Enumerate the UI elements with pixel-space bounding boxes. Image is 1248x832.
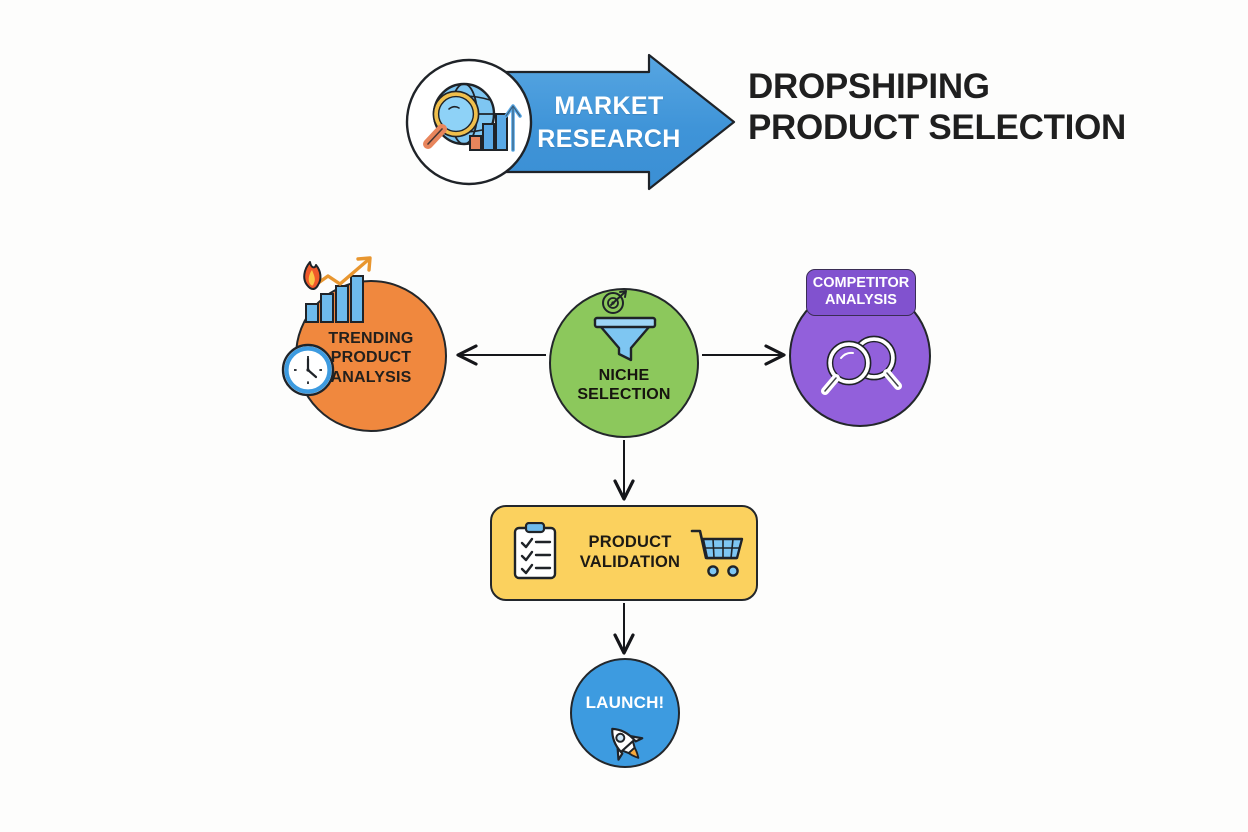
node-niche-label: NICHE SELECTION [577,366,670,404]
node-validation-label: PRODUCT VALIDATION [580,533,680,573]
node-competitor-label: COMPETITOR ANALYSIS [806,269,916,316]
funnel-icon [587,288,663,366]
shopping-cart-icon [690,527,748,579]
clock-icon [279,341,337,399]
node-launch-label: LAUNCH! [586,693,665,713]
rocket-icon [602,722,648,764]
two-magnifiers-icon [818,330,906,406]
globe-magnifier-chart-icon [412,64,530,182]
node-trending-label: TRENDING PRODUCT ANALYSIS [328,329,413,387]
clipboard-checklist-icon [511,522,559,582]
fire-growth-chart-icon [292,252,392,332]
target-dart-icon [603,291,626,313]
diagram-canvas: MARKET RESEARCH DROPSHIPING PRODUCT SELE… [0,0,1248,832]
